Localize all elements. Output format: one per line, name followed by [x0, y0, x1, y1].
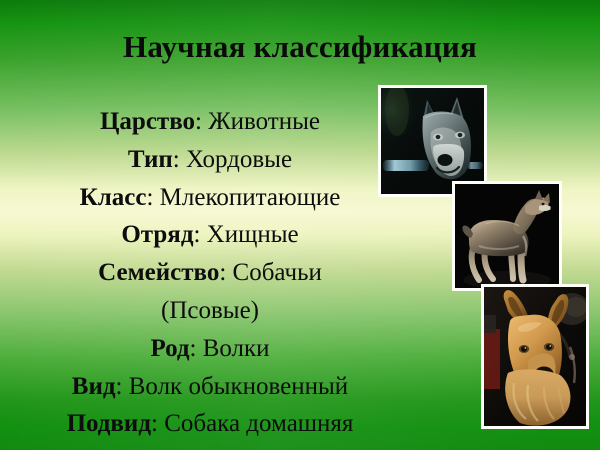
classification-row-class: Класс: Млекопитающие [8, 179, 412, 217]
classification-list: Царство: Животные Тип: Хордовые Класс: М… [8, 103, 412, 443]
classification-row-family-synonym: (Псовые) [8, 292, 412, 330]
classification-row-genus: Род: Волки [8, 330, 412, 368]
classification-value-kingdom: : Животные [195, 108, 320, 135]
classification-value-species: : Волк обыкновенный [116, 373, 349, 400]
classification-label-species: Вид [72, 373, 116, 400]
german-shepherd-photo [481, 284, 589, 429]
classification-label-order: Отряд [121, 221, 193, 248]
classification-label-genus: Род [150, 335, 189, 362]
wolf-standing-photo [452, 181, 562, 291]
classification-label-family: Семейство [98, 259, 219, 286]
classification-value-family-synonym: (Псовые) [161, 297, 259, 324]
classification-label-subspecies: Подвид [67, 410, 151, 437]
classification-row-order: Отряд: Хищные [8, 216, 412, 254]
classification-value-family: : Собачьи [219, 259, 322, 286]
classification-row-species: Вид: Волк обыкновенный [8, 368, 412, 406]
classification-row-kingdom: Царство: Животные [8, 103, 412, 141]
classification-label-phylum: Тип [128, 146, 173, 173]
classification-row-phylum: Тип: Хордовые [8, 141, 412, 179]
wolf-head-photo-image [381, 88, 484, 194]
classification-value-genus: : Волки [190, 335, 270, 362]
classification-value-order: : Хищные [193, 221, 298, 248]
wolf-standing-photo-image [455, 184, 559, 288]
presentation-slide: Научная классификация Царство: Животные … [0, 0, 600, 450]
page-title: Научная классификация [0, 29, 600, 65]
german-shepherd-photo-image [484, 287, 586, 426]
classification-value-phylum: : Хордовые [173, 146, 292, 173]
classification-label-kingdom: Царство [100, 108, 195, 135]
classification-value-class: : Млекопитающие [146, 184, 340, 211]
classification-value-subspecies: : Собака домашняя [151, 410, 353, 437]
classification-row-family: Семейство: Собачьи [8, 254, 412, 292]
classification-row-subspecies: Подвид: Собака домашняя [8, 405, 412, 443]
classification-label-class: Класс [80, 184, 147, 211]
